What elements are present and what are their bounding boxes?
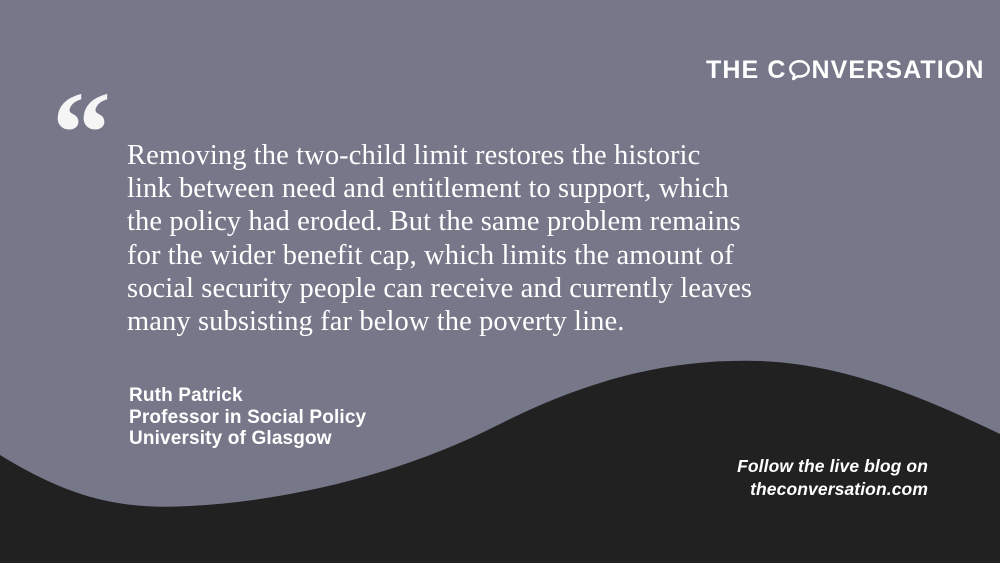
author-affiliation: University of Glasgow — [129, 428, 366, 450]
quote-card: THE CNVERSATION “ Removing the two-child… — [0, 0, 1000, 563]
quote-line: social security people can receive and c… — [127, 272, 927, 305]
logo-wordmark: THE CNVERSATION — [706, 57, 985, 83]
footer-cta[interactable]: Follow the live blog on theconversation.… — [737, 455, 928, 500]
quote-line: Removing the two-child limit restores th… — [127, 139, 927, 172]
quote-line: the policy had eroded. But the same prob… — [127, 205, 927, 238]
author-name: Ruth Patrick — [129, 385, 366, 407]
speech-bubble-icon — [788, 59, 811, 82]
quote-text: Removing the two-child limit restores th… — [127, 139, 927, 338]
quote-line: for the wider benefit cap, which limits … — [127, 239, 927, 272]
quote-line: link between need and entitlement to sup… — [127, 172, 927, 205]
logo-text-before: THE C — [706, 57, 787, 83]
footer-cta-line: Follow the live blog on — [737, 455, 928, 478]
author-role: Professor in Social Policy — [129, 407, 366, 429]
the-conversation-logo[interactable]: THE CNVERSATION — [706, 57, 985, 83]
attribution-block: Ruth Patrick Professor in Social Policy … — [129, 385, 366, 450]
quote-line: many subsisting far below the poverty li… — [127, 305, 927, 338]
footer-site-url: theconversation.com — [737, 478, 928, 501]
logo-text-after: NVERSATION — [812, 57, 985, 83]
open-quote-icon: “ — [52, 74, 109, 192]
